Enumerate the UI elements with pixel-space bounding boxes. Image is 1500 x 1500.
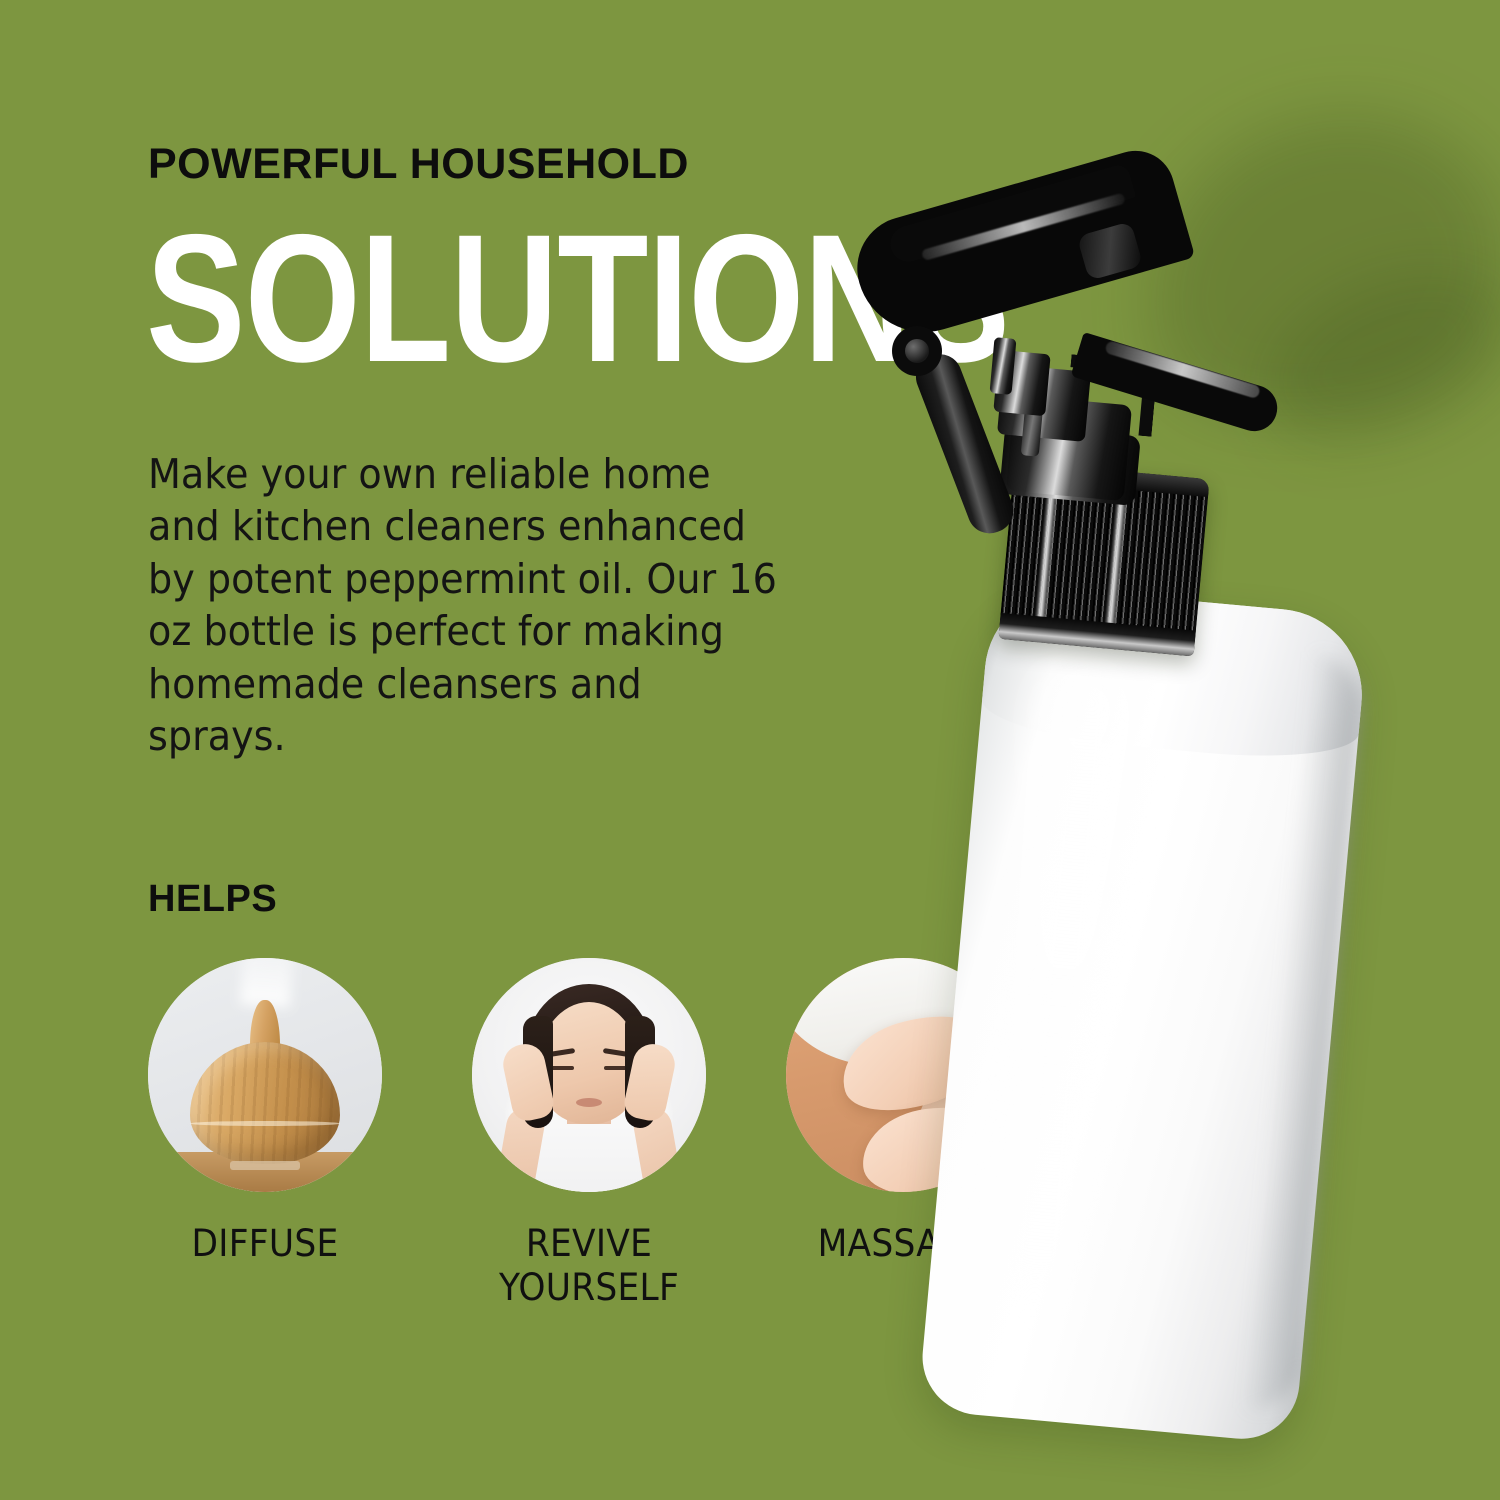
- spray-bottle-product-image: [0, 0, 1500, 1500]
- bottle-body: [918, 583, 1370, 1444]
- product-feature-poster: POWERFUL HOUSEHOLD SOLUTIONS Make your o…: [0, 0, 1500, 1500]
- trigger-lever[interactable]: [878, 228, 1288, 408]
